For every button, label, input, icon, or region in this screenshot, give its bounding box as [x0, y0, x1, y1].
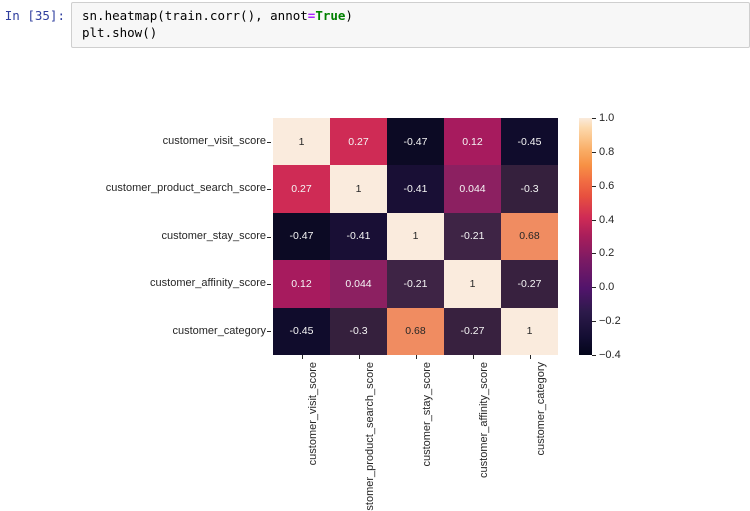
y-axis-tick-mark: [267, 331, 271, 332]
heatmap-cell: -0.45: [273, 308, 330, 355]
heatmap-cell-annotation: -0.45: [518, 136, 542, 148]
y-axis-tick-labels: customer_visit_scorecustomer_product_sea…: [100, 118, 266, 355]
heatmap-cell-annotation: -0.21: [461, 230, 485, 242]
colorbar-tick-mark: [592, 186, 596, 187]
code-editor[interactable]: sn.heatmap(train.corr(), annot=True) plt…: [71, 2, 750, 48]
heatmap-cell: -0.21: [444, 213, 501, 260]
heatmap-cell-annotation: 0.68: [405, 325, 425, 337]
colorbar-tick-label: 0.0: [599, 281, 614, 293]
heatmap-cell: 1: [387, 213, 444, 260]
heatmap-cell: 0.12: [444, 118, 501, 165]
x-axis-label: customer_visit_score: [307, 362, 319, 465]
heatmap-cell: -0.21: [387, 260, 444, 307]
code-keyword: True: [315, 8, 345, 23]
heatmap-cell: -0.41: [387, 165, 444, 212]
heatmap-cell-annotation: 1: [413, 230, 419, 242]
heatmap-cell: 1: [444, 260, 501, 307]
heatmap-cell-annotation: 1: [470, 278, 476, 290]
heatmap-cell-annotation: -0.27: [518, 278, 542, 290]
heatmap-cell: 0.68: [501, 213, 558, 260]
heatmap-cell: 1: [330, 165, 387, 212]
heatmap-cell: -0.3: [330, 308, 387, 355]
y-axis-label: customer_visit_score: [100, 118, 266, 165]
heatmap-cell: -0.47: [387, 118, 444, 165]
colorbar-gradient: [579, 118, 592, 355]
heatmap-cell: 0.27: [273, 165, 330, 212]
heatmap-cell-annotation: 0.12: [462, 136, 482, 148]
colorbar-tick-label: 0.6: [599, 180, 614, 192]
heatmap-cell-annotation: 0.044: [459, 183, 485, 195]
colorbar-tick-label: −0.2: [599, 315, 621, 327]
heatmap-cell-annotation: 0.68: [519, 230, 539, 242]
heatmap-cell: -0.27: [501, 260, 558, 307]
colorbar-tick-mark: [592, 253, 596, 254]
heatmap-cell-annotation: 1: [299, 136, 305, 148]
heatmap-cell: -0.3: [501, 165, 558, 212]
heatmap-cell: 0.044: [444, 165, 501, 212]
x-axis-tick-mark: [473, 355, 474, 359]
x-axis-tick-mark: [530, 355, 531, 359]
colorbar-tick-label: 0.2: [599, 247, 614, 259]
heatmap-cell-annotation: -0.27: [461, 325, 485, 337]
heatmap-cell-annotation: -0.45: [290, 325, 314, 337]
heatmap-cell: -0.47: [273, 213, 330, 260]
execution-count-prompt: In [35]:: [0, 2, 71, 23]
notebook-code-cell[interactable]: In [35]: sn.heatmap(train.corr(), annot=…: [0, 2, 750, 50]
colorbar-tick-mark: [592, 321, 596, 322]
y-axis-tick-mark: [267, 189, 271, 190]
y-axis-tick-mark: [267, 284, 271, 285]
x-axis-tick-mark: [302, 355, 303, 359]
heatmap-cell: -0.41: [330, 213, 387, 260]
heatmap-cell: 0.27: [330, 118, 387, 165]
heatmap-cell: 1: [273, 118, 330, 165]
y-axis-label: customer_product_search_score: [100, 165, 266, 212]
colorbar-tick-label: 1.0: [599, 112, 614, 124]
colorbar-tick-label: −0.4: [599, 349, 621, 361]
y-axis-label: customer_category: [100, 308, 266, 355]
colorbar-tick-mark: [592, 287, 596, 288]
heatmap-cell-annotation: -0.3: [520, 183, 538, 195]
matplotlib-figure-output: customer_visit_scorecustomer_product_sea…: [0, 52, 750, 511]
heatmap-cell-annotation: -0.21: [404, 278, 428, 290]
heatmap-cell: 0.68: [387, 308, 444, 355]
heatmap-cell: 0.044: [330, 260, 387, 307]
y-axis-tick-mark: [267, 142, 271, 143]
x-axis-tick-labels: customer_visit_scorecustomer_product_sea…: [273, 362, 558, 511]
colorbar-tick-mark: [592, 355, 596, 356]
code-text-tail: ): [345, 8, 353, 23]
heatmap-cell: -0.27: [444, 308, 501, 355]
heatmap-cell-annotation: -0.47: [290, 230, 314, 242]
x-axis-label: customer_stay_score: [421, 362, 433, 467]
heatmap-grid: 10.27-0.470.12-0.450.271-0.410.044-0.3-0…: [273, 118, 558, 355]
heatmap-cell-annotation: 0.044: [345, 278, 371, 290]
code-text: sn.heatmap(train.corr(), annot: [82, 8, 308, 23]
heatmap-cell-annotation: -0.41: [347, 230, 371, 242]
heatmap-cell-annotation: -0.47: [404, 136, 428, 148]
colorbar-tick-label: 0.4: [599, 214, 614, 226]
heatmap-cell-annotation: -0.41: [404, 183, 428, 195]
colorbar-tick-label: 0.8: [599, 146, 614, 158]
code-line-2: plt.show(): [82, 24, 749, 41]
heatmap-cell: 0.12: [273, 260, 330, 307]
y-axis-tick-mark: [267, 237, 271, 238]
heatmap-cell-annotation: -0.3: [349, 325, 367, 337]
colorbar-tick-mark: [592, 220, 596, 221]
x-axis-label: customer_product_search_score: [364, 362, 376, 511]
x-axis-label: customer_category: [535, 362, 547, 456]
x-axis-tick-mark: [416, 355, 417, 359]
x-axis-tick-mark: [359, 355, 360, 359]
notebook-page: In [35]: sn.heatmap(train.corr(), annot=…: [0, 0, 750, 511]
heatmap-cell-annotation: 1: [527, 325, 533, 337]
y-axis-label: customer_affinity_score: [100, 260, 266, 307]
x-axis-label: customer_affinity_score: [478, 362, 490, 478]
colorbar-tick-mark: [592, 152, 596, 153]
y-axis-label: customer_stay_score: [100, 213, 266, 260]
heatmap-cell: 1: [501, 308, 558, 355]
colorbar: 1.00.80.60.40.20.0−0.2−0.4: [579, 118, 592, 355]
heatmap-cell: -0.45: [501, 118, 558, 165]
heatmap-cell-annotation: 0.27: [291, 183, 311, 195]
heatmap-cell-annotation: 0.27: [348, 136, 368, 148]
heatmap-cell-annotation: 0.12: [291, 278, 311, 290]
code-line-1: sn.heatmap(train.corr(), annot=True): [82, 7, 749, 24]
colorbar-tick-mark: [592, 118, 596, 119]
heatmap-cell-annotation: 1: [356, 183, 362, 195]
